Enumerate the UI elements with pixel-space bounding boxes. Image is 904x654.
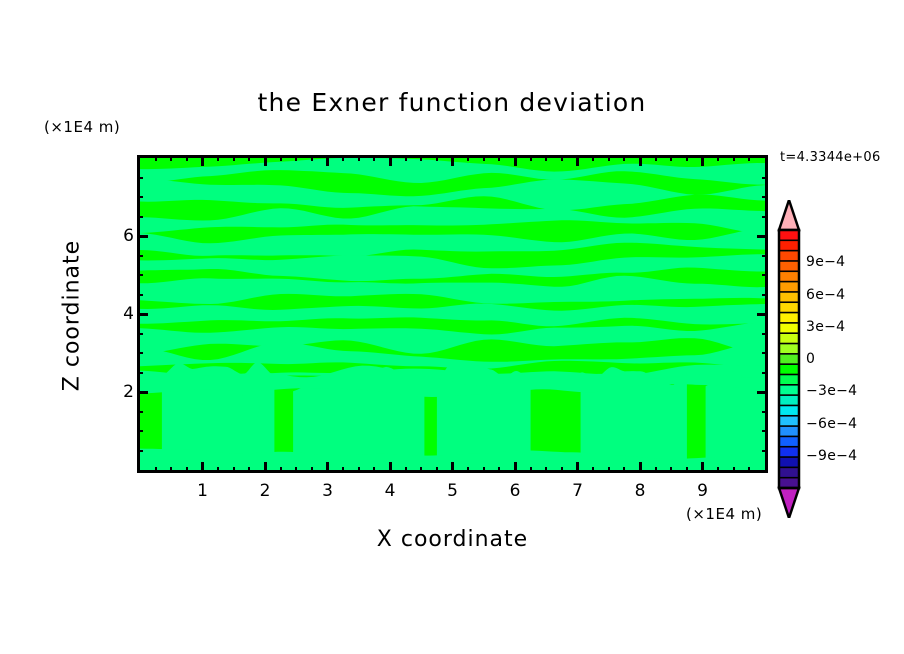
y-axis-minor-tick <box>762 411 768 413</box>
x-axis-major-tick <box>451 462 454 473</box>
colorbar-band <box>779 426 799 437</box>
colorbar-band <box>779 385 799 396</box>
colorbar-tick-label: 9e−4 <box>806 254 845 270</box>
y-axis-minor-tick <box>137 430 143 432</box>
colorbar-tick-label: 3e−4 <box>806 319 845 335</box>
x-axis-tick-label: 8 <box>635 481 646 501</box>
x-axis-tick-label: 7 <box>572 481 583 501</box>
colorbar-gradient <box>772 200 806 518</box>
y-axis-minor-tick <box>762 352 768 354</box>
x-axis-major-tick <box>326 155 329 166</box>
colorbar <box>772 200 806 518</box>
colorbar-tick-label: −9e−4 <box>806 448 857 464</box>
colorbar-band <box>779 333 799 344</box>
x-axis-minor-tick <box>670 155 672 161</box>
y-axis-minor-tick <box>762 274 768 276</box>
x-axis-minor-tick <box>561 155 563 161</box>
y-axis-minor-tick <box>137 255 143 257</box>
x-axis-minor-tick <box>405 155 407 161</box>
x-axis-minor-tick <box>655 155 657 161</box>
colorbar-band <box>779 447 799 458</box>
x-axis-unit-label: (×1E4 m) <box>686 505 762 523</box>
x-axis-minor-tick <box>483 467 485 473</box>
colorbar-band <box>779 467 799 478</box>
x-axis-minor-tick <box>248 467 250 473</box>
colorbar-over-arrow <box>779 200 799 230</box>
x-axis-major-tick <box>451 155 454 166</box>
x-axis-tick-label: 9 <box>697 481 708 501</box>
x-axis-minor-tick <box>686 467 688 473</box>
x-axis-minor-tick <box>311 155 313 161</box>
x-axis-minor-tick <box>420 155 422 161</box>
colorbar-band <box>779 230 799 241</box>
y-axis-major-tick <box>137 391 148 394</box>
contour-region <box>239 391 259 425</box>
x-axis-title: X coordinate <box>137 527 768 552</box>
colorbar-band <box>779 436 799 447</box>
x-axis-major-tick <box>639 155 642 166</box>
y-axis-minor-tick <box>762 177 768 179</box>
colorbar-band <box>779 395 799 406</box>
y-axis-minor-tick <box>137 352 143 354</box>
x-axis-minor-tick <box>686 155 688 161</box>
colorbar-band <box>779 271 799 282</box>
colorbar-band <box>779 282 799 293</box>
colorbar-band <box>779 344 799 355</box>
colorbar-band <box>779 457 799 468</box>
x-axis-major-tick <box>514 462 517 473</box>
timestamp-annotation: t=4.3344e+06 <box>780 150 881 165</box>
x-axis-minor-tick <box>342 155 344 161</box>
x-axis-major-tick <box>326 462 329 473</box>
x-axis-minor-tick <box>608 155 610 161</box>
x-axis-minor-tick <box>717 467 719 473</box>
colorbar-band <box>779 240 799 251</box>
y-axis-minor-tick <box>137 294 143 296</box>
y-axis-unit-label: (×1E4 m) <box>44 118 120 136</box>
x-axis-major-tick <box>389 155 392 166</box>
x-axis-minor-tick <box>155 467 157 473</box>
y-axis-minor-tick <box>137 196 143 198</box>
x-axis-minor-tick <box>170 155 172 161</box>
x-axis-minor-tick <box>280 155 282 161</box>
colorbar-band <box>779 302 799 313</box>
x-axis-minor-tick <box>608 467 610 473</box>
x-axis-minor-tick <box>545 155 547 161</box>
y-axis-minor-tick <box>762 216 768 218</box>
x-axis-tick-label: 5 <box>447 481 458 501</box>
y-axis-minor-tick <box>137 177 143 179</box>
y-axis-minor-tick <box>762 450 768 452</box>
colorbar-band <box>779 405 799 416</box>
x-axis-major-tick <box>576 155 579 166</box>
x-axis-tick-label: 2 <box>260 481 271 501</box>
colorbar-tick-label: 6e−4 <box>806 287 845 303</box>
x-axis-minor-tick <box>467 155 469 161</box>
x-axis-minor-tick <box>733 467 735 473</box>
x-axis-minor-tick <box>623 155 625 161</box>
contour-region <box>461 406 476 428</box>
x-axis-minor-tick <box>733 155 735 161</box>
y-axis-minor-tick <box>137 450 143 452</box>
y-axis-major-tick <box>137 313 148 316</box>
y-axis-minor-tick <box>762 294 768 296</box>
y-axis-major-tick <box>757 313 768 316</box>
x-axis-minor-tick <box>498 467 500 473</box>
x-axis-minor-tick <box>483 155 485 161</box>
x-axis-minor-tick <box>655 467 657 473</box>
x-axis-minor-tick <box>748 155 750 161</box>
x-axis-minor-tick <box>186 155 188 161</box>
x-axis-minor-tick <box>748 467 750 473</box>
colorbar-tick-label: 0 <box>806 351 815 367</box>
y-axis-title: Z coordinate <box>60 186 85 446</box>
x-axis-minor-tick <box>530 155 532 161</box>
colorbar-tick-label: −3e−4 <box>806 383 857 399</box>
x-axis-minor-tick <box>592 467 594 473</box>
y-axis-major-tick <box>757 391 768 394</box>
page-title: the Exner function deviation <box>0 88 904 117</box>
x-axis-minor-tick <box>436 155 438 161</box>
x-axis-minor-tick <box>358 467 360 473</box>
x-axis-minor-tick <box>248 155 250 161</box>
x-axis-minor-tick <box>545 467 547 473</box>
x-axis-major-tick <box>576 462 579 473</box>
x-axis-major-tick <box>201 155 204 166</box>
colorbar-band <box>779 374 799 385</box>
colorbar-band <box>779 416 799 427</box>
x-axis-major-tick <box>389 462 392 473</box>
x-axis-minor-tick <box>186 467 188 473</box>
x-axis-minor-tick <box>467 467 469 473</box>
x-axis-minor-tick <box>217 467 219 473</box>
x-axis-major-tick <box>639 462 642 473</box>
x-axis-minor-tick <box>217 155 219 161</box>
x-axis-tick-label: 6 <box>510 481 521 501</box>
x-axis-minor-tick <box>342 467 344 473</box>
colorbar-band <box>779 323 799 334</box>
y-axis-minor-tick <box>137 274 143 276</box>
contour-field <box>140 158 765 470</box>
x-axis-minor-tick <box>280 467 282 473</box>
x-axis-tick-label: 1 <box>197 481 208 501</box>
y-axis-major-tick <box>757 235 768 238</box>
x-axis-minor-tick <box>155 155 157 161</box>
x-axis-minor-tick <box>561 467 563 473</box>
x-axis-minor-tick <box>530 467 532 473</box>
y-axis-minor-tick <box>137 372 143 374</box>
x-axis-tick-label: 3 <box>322 481 333 501</box>
y-axis-minor-tick <box>762 255 768 257</box>
x-axis-minor-tick <box>373 467 375 473</box>
x-axis-minor-tick <box>436 467 438 473</box>
x-axis-minor-tick <box>623 467 625 473</box>
x-axis-minor-tick <box>717 155 719 161</box>
x-axis-minor-tick <box>405 467 407 473</box>
x-axis-major-tick <box>264 155 267 166</box>
x-axis-minor-tick <box>170 467 172 473</box>
x-axis-major-tick <box>264 462 267 473</box>
x-axis-major-tick <box>201 462 204 473</box>
contour-plot-area <box>137 155 768 473</box>
colorbar-band <box>779 251 799 262</box>
colorbar-band <box>779 354 799 365</box>
x-axis-minor-tick <box>592 155 594 161</box>
x-axis-minor-tick <box>420 467 422 473</box>
x-axis-minor-tick <box>358 155 360 161</box>
colorbar-band <box>779 313 799 324</box>
colorbar-under-arrow <box>779 488 799 518</box>
y-axis-tick-label: 4 <box>118 304 134 324</box>
y-axis-minor-tick <box>137 333 143 335</box>
contour-region <box>354 398 370 426</box>
x-axis-minor-tick <box>311 467 313 473</box>
y-axis-tick-label: 6 <box>118 226 134 246</box>
x-axis-minor-tick <box>233 467 235 473</box>
y-axis-tick-label: 2 <box>118 382 134 402</box>
colorbar-band <box>779 292 799 303</box>
y-axis-minor-tick <box>762 196 768 198</box>
x-axis-minor-tick <box>233 155 235 161</box>
x-axis-major-tick <box>701 462 704 473</box>
colorbar-band <box>779 364 799 375</box>
y-axis-minor-tick <box>137 411 143 413</box>
y-axis-minor-tick <box>762 333 768 335</box>
x-axis-minor-tick <box>670 467 672 473</box>
y-axis-minor-tick <box>137 216 143 218</box>
x-axis-major-tick <box>701 155 704 166</box>
y-axis-minor-tick <box>762 430 768 432</box>
x-axis-tick-label: 4 <box>385 481 396 501</box>
x-axis-major-tick <box>514 155 517 166</box>
colorbar-band <box>779 261 799 272</box>
x-axis-minor-tick <box>498 155 500 161</box>
colorbar-tick-label: −6e−4 <box>806 416 857 432</box>
x-axis-minor-tick <box>295 467 297 473</box>
x-axis-minor-tick <box>295 155 297 161</box>
y-axis-minor-tick <box>762 372 768 374</box>
y-axis-major-tick <box>137 235 148 238</box>
x-axis-minor-tick <box>373 155 375 161</box>
